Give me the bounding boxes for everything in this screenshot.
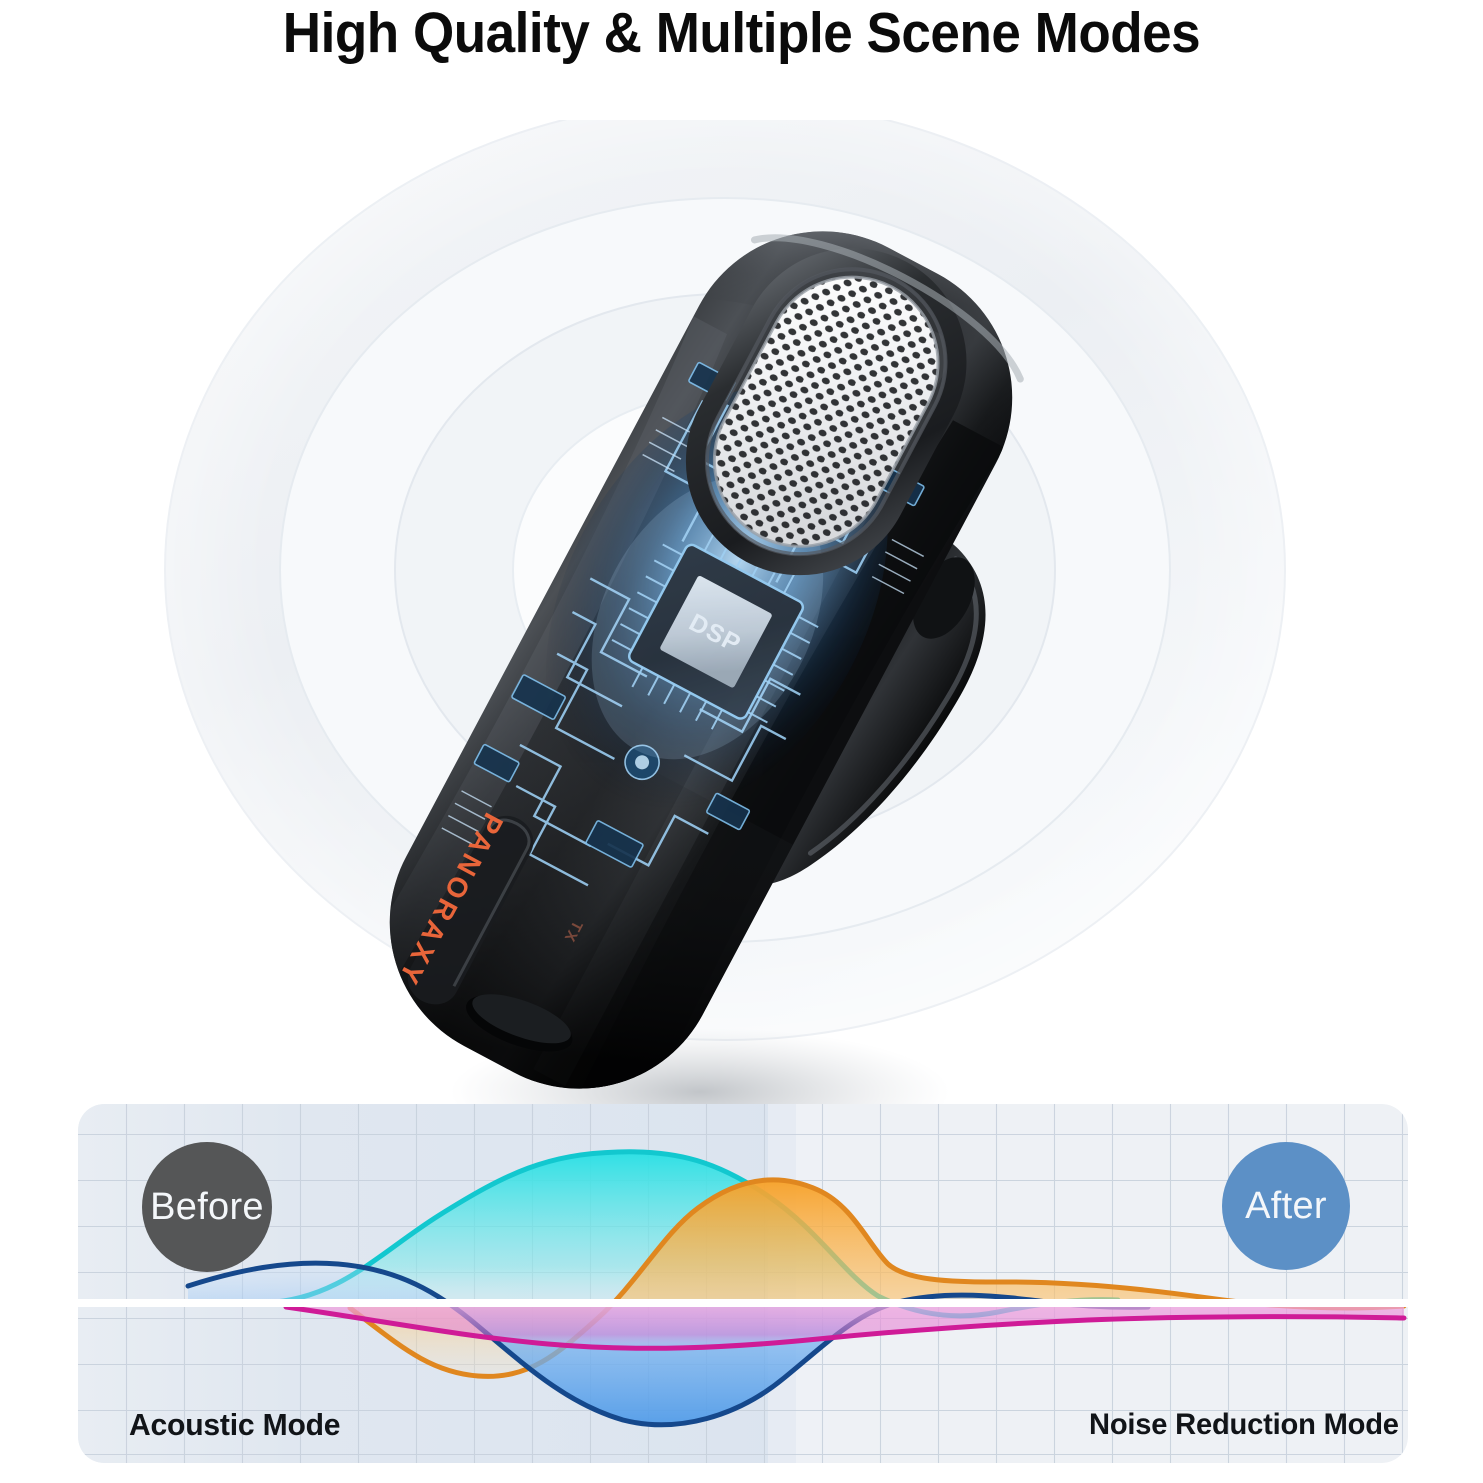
after-badge: After	[1222, 1142, 1350, 1270]
chart-baseline	[78, 1299, 1408, 1307]
after-badge-label: After	[1245, 1185, 1327, 1228]
product-marketing-image: High Quality & Multiple Scene Modes	[0, 0, 1483, 1483]
before-badge: Before	[142, 1142, 272, 1272]
noise-reduction-mode-label: Noise Reduction Mode	[1089, 1408, 1399, 1442]
acoustic-mode-label: Acoustic Mode	[129, 1407, 340, 1443]
before-badge-label: Before	[150, 1186, 264, 1229]
